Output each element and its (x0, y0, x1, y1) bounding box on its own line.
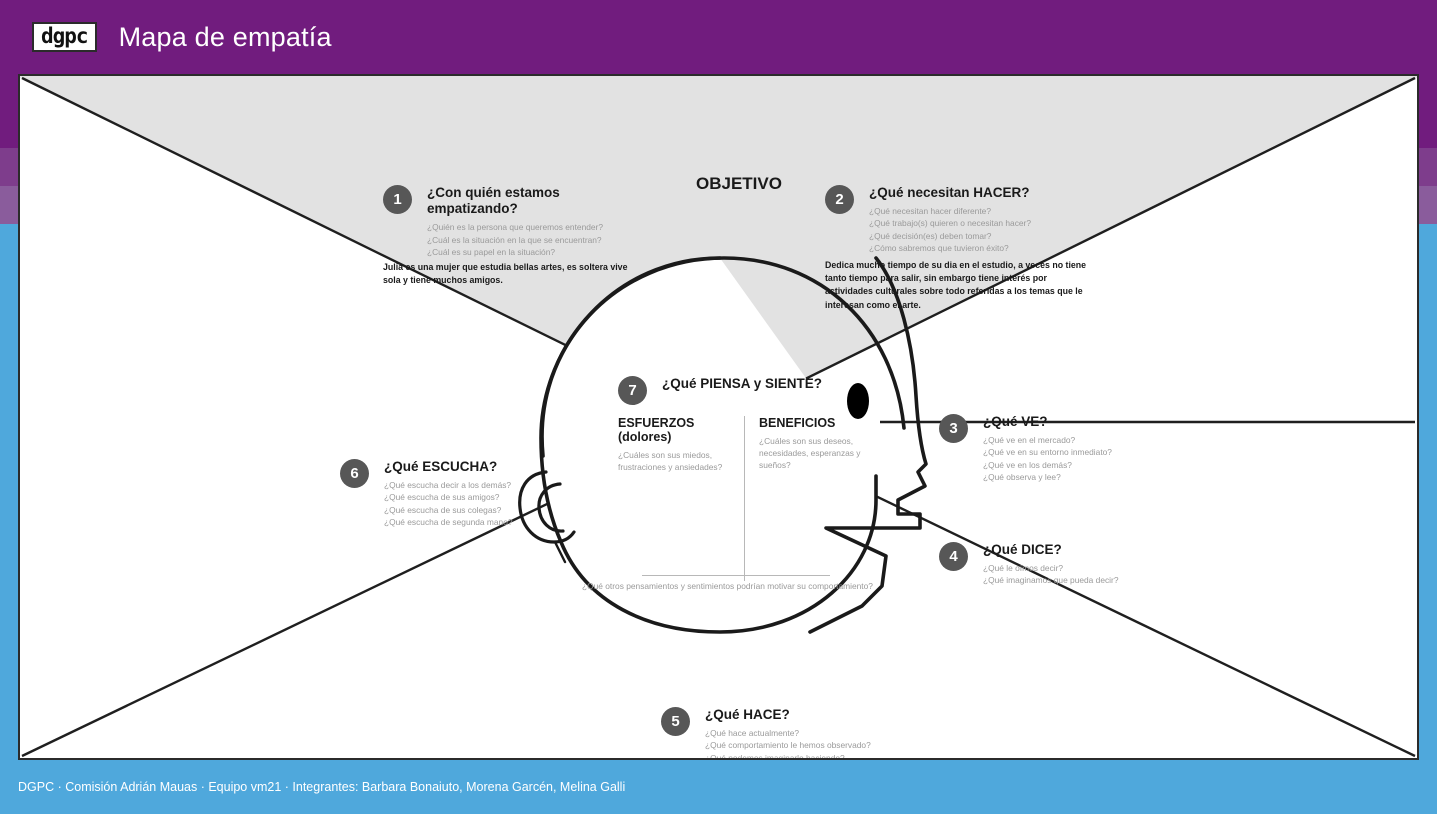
quadrant-2-prompts: ¿Qué necesitan hacer diferente? ¿Qué tra… (869, 205, 1105, 254)
prompt-line: ¿Qué decisión(es) deben tomar? (869, 230, 1105, 242)
quadrant-7-title: ¿Qué PIENSA y SIENTE? (662, 376, 918, 392)
column-beneficios[interactable]: BENEFICIOS ¿Cuáles son sus deseos, neces… (759, 416, 879, 581)
empathy-map-canvas[interactable]: OBJETIVO 1 ¿Con quién estamos empatizand… (18, 74, 1419, 760)
beneficios-title: BENEFICIOS (759, 416, 879, 430)
prompt-line: ¿Qué necesitan hacer diferente? (869, 205, 1105, 217)
quadrant-1-title: ¿Con quién estamos empatizando? (427, 185, 643, 217)
quadrant-4-prompts: ¿Qué le oímos decir? ¿Qué imaginamos que… (983, 562, 1169, 586)
prompt-line: ¿Qué escucha de sus amigos? (384, 491, 570, 503)
quadrant-6-hear[interactable]: 6 ¿Qué ESCUCHA? ¿Qué escucha decir a los… (340, 459, 570, 528)
app-header: dgpc Mapa de empatía (0, 0, 1437, 74)
quadrant-4-say[interactable]: 4 ¿Qué DICE? ¿Qué le oímos decir? ¿Qué i… (939, 542, 1169, 587)
esfuerzos-prompt: ¿Cuáles son sus miedos, frustraciones y … (618, 449, 738, 473)
quadrant-5-number: 5 (661, 707, 690, 736)
quadrant-1-who[interactable]: 1 ¿Con quién estamos empatizando? ¿Quién… (383, 185, 643, 258)
quadrant-3-number: 3 (939, 414, 968, 443)
page-title: Mapa de empatía (119, 22, 332, 53)
prompt-line: ¿Qué hace actualmente? (705, 727, 911, 739)
objetivo-label: OBJETIVO (696, 174, 782, 194)
quadrant-6-prompts: ¿Qué escucha decir a los demás? ¿Qué esc… (384, 479, 570, 528)
quadrant-4-number: 4 (939, 542, 968, 571)
prompt-line: ¿Qué le oímos decir? (983, 562, 1169, 574)
quadrant-1-prompts: ¿Quién es la persona que queremos entend… (427, 221, 643, 258)
prompt-line: ¿Cómo sabremos que tuvieron éxito? (869, 242, 1105, 254)
footer: DGPC · Comisión Adrián Mauas · Equipo vm… (0, 760, 1437, 814)
quadrant-1-number: 1 (383, 185, 412, 214)
prompt-line: ¿Qué observa y lee? (983, 471, 1169, 483)
quadrant-2-title: ¿Qué necesitan HACER? (869, 185, 1105, 201)
quadrant-2-do[interactable]: 2 ¿Qué necesitan HACER? ¿Qué necesitan h… (825, 185, 1105, 254)
prompt-line: ¿Qué comportamiento le hemos observado? (705, 739, 911, 751)
quadrant-3-title: ¿Qué VE? (983, 414, 1169, 430)
think-feel-bottom-prompt: ¿Qué otros pensamientos y sentimientos p… (582, 581, 873, 591)
prompt-line: ¿Qué escucha decir a los demás? (384, 479, 570, 491)
prompt-line: ¿Cuál es su papel en la situación? (427, 246, 643, 258)
prompt-line: ¿Quién es la persona que queremos entend… (427, 221, 643, 233)
quadrant-5-title: ¿Qué HACE? (705, 707, 911, 723)
column-divider (744, 416, 745, 581)
prompt-line: ¿Qué ve en el mercado? (983, 434, 1169, 446)
quadrant-6-number: 6 (340, 459, 369, 488)
prompt-line: ¿Qué ve en su entorno inmediato? (983, 446, 1169, 458)
prompt-line: ¿Cuál es la situación en la que se encue… (427, 234, 643, 246)
prompt-line: ¿Qué escucha de segunda mano? (384, 516, 570, 528)
quadrant-7-think-feel[interactable]: 7 ¿Qué PIENSA y SIENTE? ESFUERZOS (dolor… (618, 376, 918, 392)
dgpc-logo: dgpc (32, 22, 97, 52)
quadrant-7-number: 7 (618, 376, 647, 405)
quadrant-2-number: 2 (825, 185, 854, 214)
quadrant-5-does[interactable]: 5 ¿Qué HACE? ¿Qué hace actualmente? ¿Qué… (661, 707, 911, 760)
footer-credits: DGPC · Comisión Adrián Mauas · Equipo vm… (18, 780, 625, 794)
quadrant-4-title: ¿Qué DICE? (983, 542, 1169, 558)
quadrant-1-answer[interactable]: Julia es una mujer que estudia bellas ar… (383, 261, 633, 287)
think-feel-columns: ESFUERZOS (dolores) ¿Cuáles son sus mied… (618, 416, 900, 581)
prompt-line: ¿Qué podemos imaginarlo haciendo? (705, 752, 911, 760)
quadrant-6-title: ¿Qué ESCUCHA? (384, 459, 570, 475)
prompt-line: ¿Qué imaginamos que pueda decir? (983, 574, 1169, 586)
prompt-line: ¿Qué ve en los demás? (983, 459, 1169, 471)
quadrant-3-prompts: ¿Qué ve en el mercado? ¿Qué ve en su ent… (983, 434, 1169, 483)
esfuerzos-title: ESFUERZOS (dolores) (618, 416, 738, 444)
column-esfuerzos[interactable]: ESFUERZOS (dolores) ¿Cuáles son sus mied… (618, 416, 738, 581)
quadrant-3-see[interactable]: 3 ¿Qué VE? ¿Qué ve en el mercado? ¿Qué v… (939, 414, 1169, 483)
beneficios-prompt: ¿Cuáles son sus deseos, necesidades, esp… (759, 435, 879, 472)
quadrant-5-prompts: ¿Qué hace actualmente? ¿Qué comportamien… (705, 727, 911, 760)
prompt-line: ¿Qué trabajo(s) quieren o necesitan hace… (869, 217, 1105, 229)
center-underline-right (732, 575, 830, 576)
quadrant-2-answer[interactable]: Dedica mucho tiempo de su dia en el estu… (825, 259, 1095, 312)
prompt-line: ¿Qué escucha de sus colegas? (384, 504, 570, 516)
